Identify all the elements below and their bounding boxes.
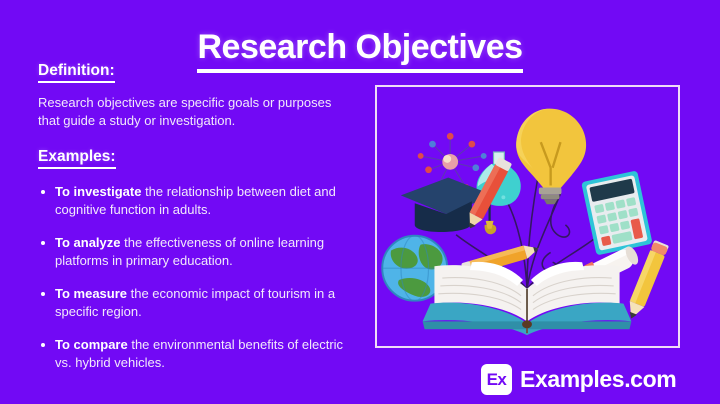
brand-logo: Ex Examples.com <box>481 364 676 395</box>
examples-heading: Examples: <box>38 148 116 169</box>
example-lead: To investigate <box>55 184 141 199</box>
list-item: To compare the environmental benefits of… <box>38 336 358 373</box>
calculator-icon <box>581 170 652 255</box>
example-lead: To measure <box>55 286 127 301</box>
examples-section: Examples: To investigate the relationshi… <box>38 148 358 373</box>
logo-badge-icon: Ex <box>481 364 512 395</box>
definition-body: Research objectives are specific goals o… <box>38 94 356 131</box>
content-column: Definition: Research objectives are spec… <box>38 62 358 373</box>
education-illustration <box>377 87 678 346</box>
definition-heading: Definition: <box>38 62 115 83</box>
example-lead: To analyze <box>55 235 121 250</box>
definition-section: Definition: Research objectives are spec… <box>38 62 358 131</box>
logo-text: Examples.com <box>520 366 676 393</box>
examples-list: To investigate the relationship between … <box>38 183 358 373</box>
example-lead: To compare <box>55 337 128 352</box>
list-item: To analyze the effectiveness of online l… <box>38 234 358 271</box>
lightbulb-icon <box>516 109 586 205</box>
slide-canvas: Research Objectives Definition: Research… <box>0 0 720 404</box>
list-item: To investigate the relationship between … <box>38 183 358 220</box>
list-item: To measure the economic impact of touris… <box>38 285 358 322</box>
illustration-panel <box>375 85 680 348</box>
